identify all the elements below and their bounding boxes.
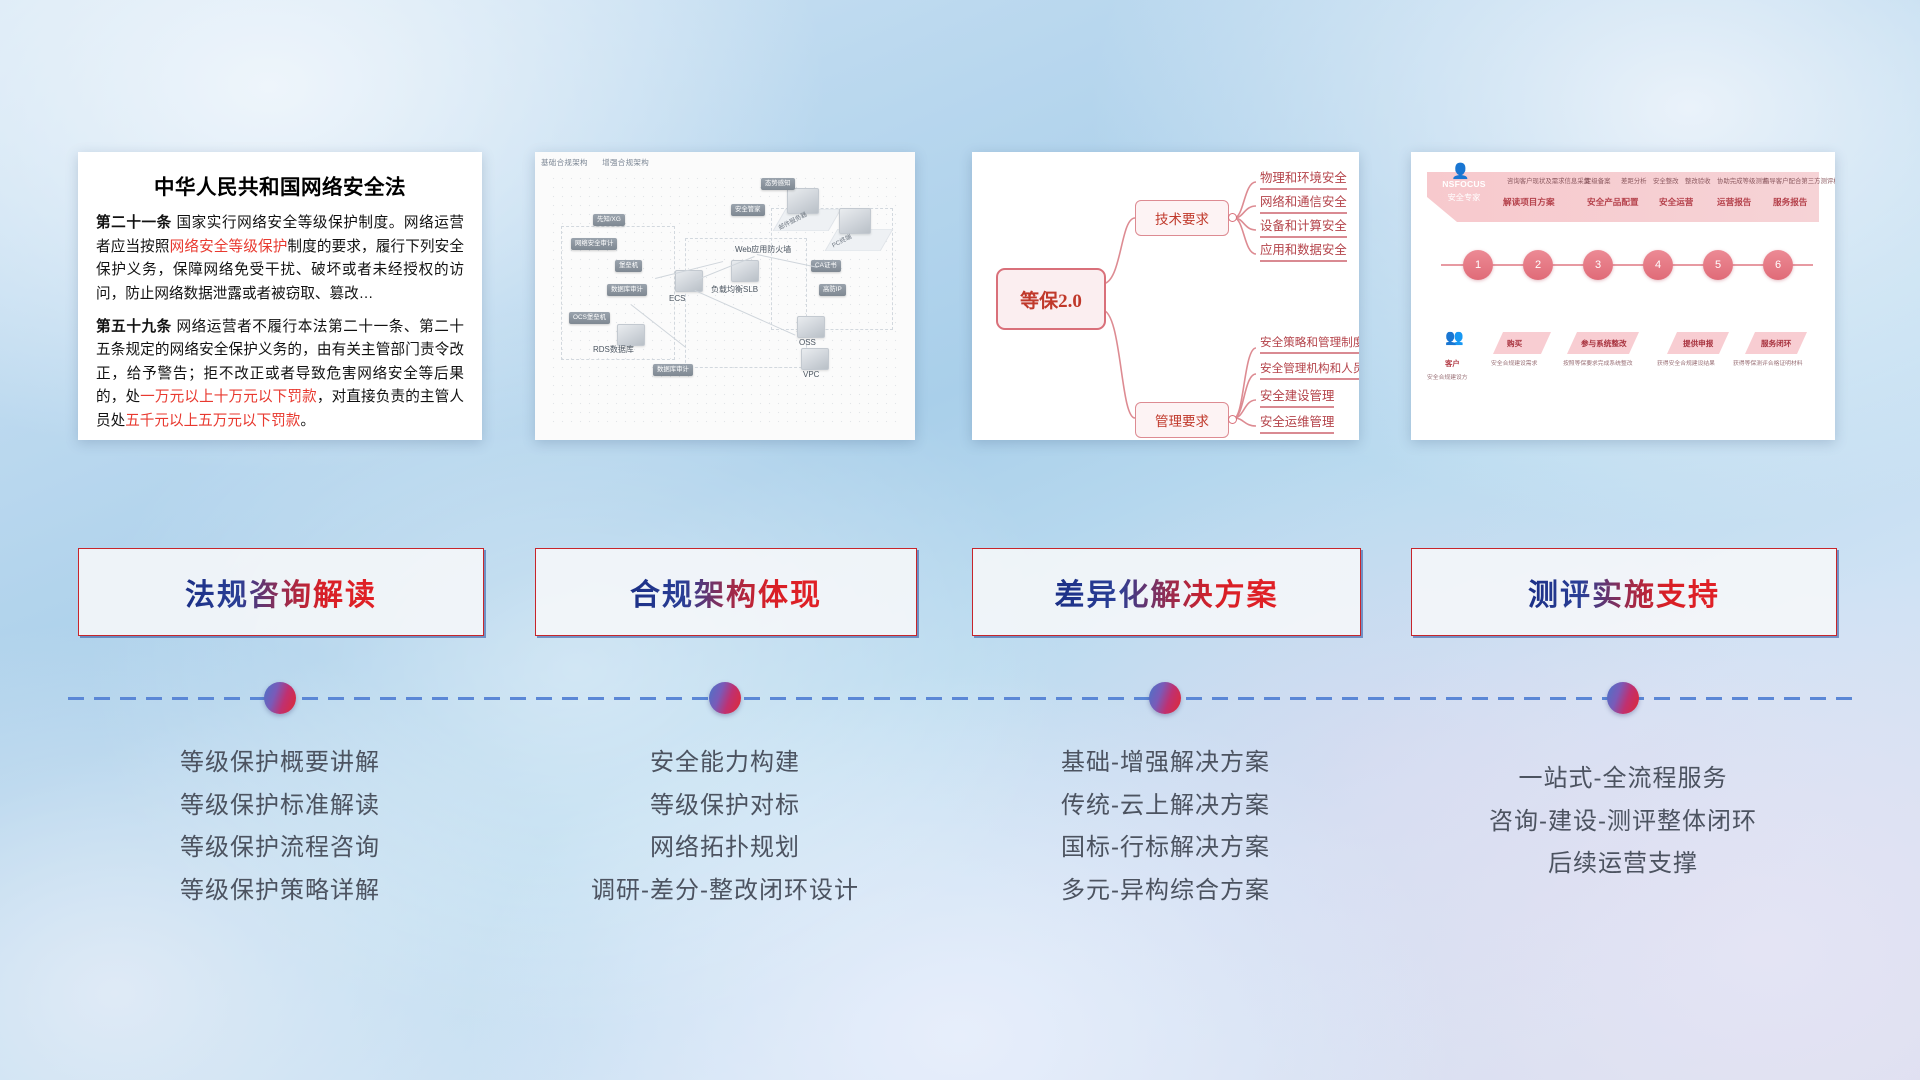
article-59-label: 第五十九条	[96, 319, 172, 335]
mindmap-branch-management: 管理要求	[1135, 402, 1229, 438]
cards-row: 中华人民共和国网络安全法 第二十一条 国家实行网络安全等级保护制度。网络运营者应…	[0, 0, 1920, 310]
roadmap-customer-sub: 安全合规建设方	[1427, 372, 1468, 381]
roadmap-customer-label: 客户	[1445, 358, 1460, 369]
section-box-1[interactable]: 合规架构体现	[535, 548, 917, 636]
arch-node-7: ECS	[669, 294, 685, 303]
law-article-59: 第五十九条 网络运营者不履行本法第二十一条、第二十五条规定的网络安全保护义务的，…	[96, 316, 464, 434]
roadmap-brand-sub: 安全专家	[1435, 191, 1493, 203]
arch-tag-1: 增强合规架构	[602, 158, 649, 167]
roadmap-caption-3: 运营报告	[1717, 196, 1751, 208]
roadmap-tag-sub-1: 按照等保要求完成系统整改	[1563, 358, 1633, 367]
arch-node-2: 先知/XG	[593, 214, 625, 226]
list-item: 传统-云上解决方案	[972, 785, 1359, 828]
roadmap-caption-4: 服务报告	[1773, 196, 1807, 208]
section-title-3: 测评实施支持	[1528, 570, 1720, 614]
timeline-dashed-line	[68, 697, 1852, 700]
arch-node-12: RDS数据库	[593, 344, 634, 355]
roadmap-brand-name: NSFOCUS	[1435, 179, 1493, 189]
list-item: 多元-异构综合方案	[972, 870, 1359, 913]
list-item: 咨询-建设-测评整体闭环	[1411, 801, 1835, 844]
mindmap-branch-technical: 技术要求	[1135, 200, 1229, 236]
list-item: 一站式-全流程服务	[1411, 758, 1835, 801]
roadmap-step-2: 2	[1523, 250, 1553, 280]
roadmap-step-4: 4	[1643, 250, 1673, 280]
arch-cube-rds	[617, 324, 645, 346]
arch-node-3: 网络安全审计	[571, 238, 617, 250]
roadmap-step-5: 5	[1703, 250, 1733, 280]
arch-node-13: OSS	[799, 338, 816, 347]
roadmap-brand: NSFOCUS 安全专家	[1435, 179, 1493, 203]
law-article-21: 第二十一条 国家实行网络安全等级保护制度。网络运营者应当按照网络安全等级保护制度…	[96, 212, 464, 307]
list-item: 等级保护策略详解	[78, 870, 482, 913]
arch-node-11: 高防IP	[819, 284, 846, 296]
roadmap-step-3: 3	[1583, 250, 1613, 280]
arch-node-9: Web应用防火墙	[735, 244, 791, 255]
roadmap-tag-sub-2: 获得安全合规建设结果	[1657, 358, 1715, 367]
arch-cube-oss	[797, 316, 825, 338]
roadmap-diagram: NSFOCUS 安全专家 👤 咨询客户现状及需求信息采集 定级备案 差距分析 安…	[1411, 152, 1835, 440]
roadmap-step-1: 1	[1463, 250, 1493, 280]
expert-icon: 👤	[1451, 164, 1470, 179]
list-item: 国标-行标解决方案	[972, 827, 1359, 870]
arch-cube-ecs	[675, 270, 703, 292]
article-59-highlight-2: 五千元以上五万元以下罚款	[125, 413, 300, 429]
list-item: 后续运营支撑	[1411, 843, 1835, 886]
list-item: 网络拓扑规划	[535, 827, 915, 870]
arch-node-1: 态势感知	[761, 178, 795, 190]
customer-icon: 👥	[1445, 330, 1464, 345]
arch-cube-vpc	[801, 348, 829, 370]
section-title-1: 合规架构体现	[630, 570, 822, 614]
roadmap-step-6: 6	[1763, 250, 1793, 280]
arch-node-8: 负载均衡SLB	[711, 284, 758, 295]
roadmap-tag-title-0: 购买	[1507, 338, 1522, 349]
section-list-2: 基础-增强解决方案 传统-云上解决方案 国标-行标解决方案 多元-异构综合方案	[972, 742, 1359, 913]
arch-node-0: 安全管家	[731, 204, 765, 216]
article-59-text-c: 。	[300, 413, 315, 429]
mindmap: 等保2.0 技术要求 管理要求 物理和环境安全 网络和通信安全 设备和计算安全 …	[972, 152, 1359, 440]
arch-tag-0: 基础合规架构	[541, 158, 588, 167]
roadmap-header-item-5: 协助完成等级测评	[1717, 176, 1768, 185]
roadmap-tag-title-3: 服务闭环	[1761, 338, 1791, 349]
section-list-1: 安全能力构建 等级保护对标 网络拓扑规划 调研-差分-整改闭环设计	[535, 742, 915, 913]
card-compliance-architecture: 基础合规架构 增强合规架构 邮件服务器 PC终端 安全管家 态势感知 先知/XG…	[535, 152, 915, 440]
arch-cube-pc	[839, 208, 871, 234]
section-list-3: 一站式-全流程服务 咨询-建设-测评整体闭环 后续运营支撑	[1411, 758, 1835, 886]
list-item: 等级保护流程咨询	[78, 827, 482, 870]
law-content: 中华人民共和国网络安全法 第二十一条 国家实行网络安全等级保护制度。网络运营者应…	[78, 152, 482, 440]
article-21-label: 第二十一条	[96, 215, 172, 231]
mindmap-leaf-tech-3: 应用和数据安全	[1260, 240, 1347, 262]
roadmap-tag-sub-0: 安全合规建设需求	[1491, 358, 1537, 367]
list-item: 等级保护对标	[535, 785, 915, 828]
mindmap-leaf-mgmt-3: 安全运维管理	[1260, 412, 1334, 434]
section-box-3[interactable]: 测评实施支持	[1411, 548, 1837, 636]
architecture-tagbar: 基础合规架构 增强合规架构	[541, 157, 661, 168]
roadmap-tag-sub-3: 获得等保测评合格证明材料	[1733, 358, 1803, 367]
card-cybersecurity-law: 中华人民共和国网络安全法 第二十一条 国家实行网络安全等级保护制度。网络运营者应…	[78, 152, 482, 440]
roadmap-header-item-3: 安全整改	[1653, 176, 1679, 185]
roadmap-tag-title-2: 提供申报	[1683, 338, 1713, 349]
mindmap-dot-management	[1228, 415, 1237, 424]
list-item: 等级保护标准解读	[78, 785, 482, 828]
roadmap-timeline-line	[1441, 264, 1813, 266]
arch-node-14: VPC	[803, 370, 819, 379]
roadmap-header-item-0: 咨询客户现状及需求信息采集	[1507, 176, 1590, 185]
arch-node-6: OCS堡垒机	[569, 312, 610, 324]
mindmap-leaf-tech-2: 设备和计算安全	[1260, 216, 1347, 238]
arch-node-4: 堡垒机	[615, 260, 642, 272]
section-box-2[interactable]: 差异化解决方案	[972, 548, 1361, 636]
arch-node-15: 数据库审计	[653, 364, 693, 376]
list-item: 等级保护概要讲解	[78, 742, 482, 785]
list-item: 基础-增强解决方案	[972, 742, 1359, 785]
arch-node-5: 数据库审计	[607, 284, 647, 296]
mindmap-leaf-tech-1: 网络和通信安全	[1260, 192, 1347, 214]
article-59-highlight-1: 一万元以上十万元以下罚款	[140, 389, 317, 405]
section-title-2: 差异化解决方案	[1055, 570, 1279, 614]
mindmap-dot-technical	[1228, 213, 1237, 222]
roadmap-caption-0: 解读项目方案	[1503, 196, 1555, 208]
roadmap-tag-title-1: 参与系统整改	[1581, 338, 1627, 349]
timeline-dot-1[interactable]	[709, 682, 741, 714]
section-list-0: 等级保护概要讲解 等级保护标准解读 等级保护流程咨询 等级保护策略详解	[78, 742, 482, 913]
roadmap-caption-1: 安全产品配置	[1587, 196, 1639, 208]
roadmap-header-item-2: 差距分析	[1621, 176, 1647, 185]
roadmap-caption-2: 安全运营	[1659, 196, 1693, 208]
timeline-dot-0[interactable]	[264, 682, 296, 714]
roadmap-header-item-1: 定级备案	[1585, 176, 1611, 185]
timeline-dot-3[interactable]	[1607, 682, 1639, 714]
mindmap-leaf-tech-0: 物理和环境安全	[1260, 168, 1347, 190]
list-item: 调研-差分-整改闭环设计	[535, 870, 915, 913]
mindmap-leaf-mgmt-0: 安全策略和管理制度	[1260, 334, 1359, 354]
architecture-diagram: 基础合规架构 增强合规架构 邮件服务器 PC终端 安全管家 态势感知 先知/XG…	[535, 152, 915, 440]
law-title: 中华人民共和国网络安全法	[96, 170, 464, 200]
list-item: 安全能力构建	[535, 742, 915, 785]
mindmap-leaf-mgmt-1: 安全管理机构和人员	[1260, 360, 1359, 380]
card-mindmap-dengbao: 等保2.0 技术要求 管理要求 物理和环境安全 网络和通信安全 设备和计算安全 …	[972, 152, 1359, 440]
article-21-highlight: 网络安全等级保护	[170, 239, 288, 255]
section-title-0: 法规咨询解读	[185, 570, 377, 614]
roadmap-header-item-6: 指导客户配合第三方测评机构开展测评工作	[1763, 176, 1835, 185]
timeline-dot-2[interactable]	[1149, 682, 1181, 714]
mindmap-root: 等保2.0	[996, 268, 1106, 330]
mindmap-leaf-mgmt-2: 安全建设管理	[1260, 386, 1334, 408]
roadmap-header-item-4: 整改验收	[1685, 176, 1711, 185]
card-nsfocus-roadmap: NSFOCUS 安全专家 👤 咨询客户现状及需求信息采集 定级备案 差距分析 安…	[1411, 152, 1835, 440]
section-box-0[interactable]: 法规咨询解读	[78, 548, 484, 636]
